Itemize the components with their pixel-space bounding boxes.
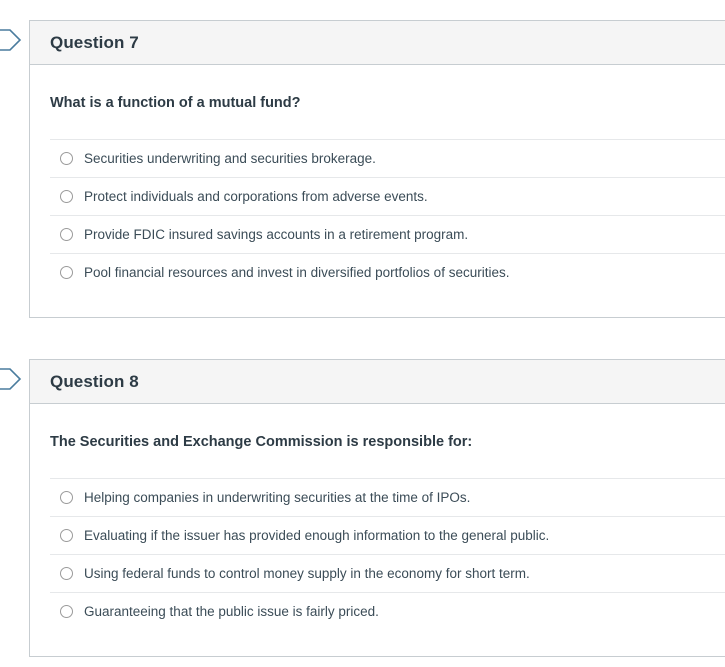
answer-option-label: Pool financial resources and invest in d… [84, 264, 509, 282]
question-body: What is a function of a mutual fund? Sec… [30, 65, 725, 319]
radio-button-icon[interactable] [60, 605, 73, 618]
answer-list-spacer [50, 291, 725, 319]
answer-option-label: Evaluating if the issuer has provided en… [84, 527, 549, 545]
answer-option[interactable]: Securities underwriting and securities b… [50, 139, 725, 177]
radio-button-icon[interactable] [60, 567, 73, 580]
answer-option-label: Protect individuals and corporations fro… [84, 188, 428, 206]
answer-option-label: Securities underwriting and securities b… [84, 150, 376, 168]
radio-button-icon[interactable] [60, 228, 73, 241]
radio-button-icon[interactable] [60, 491, 73, 504]
answer-option-label: Using federal funds to control money sup… [84, 565, 530, 583]
radio-button-icon[interactable] [60, 152, 73, 165]
answer-option-label: Provide FDIC insured savings accounts in… [84, 226, 468, 244]
question-header: Question 7 [30, 21, 725, 65]
answer-option[interactable]: Guaranteeing that the public issue is fa… [50, 592, 725, 630]
answer-option[interactable]: Provide FDIC insured savings accounts in… [50, 215, 725, 253]
answer-list-spacer [50, 630, 725, 658]
answer-option[interactable]: Evaluating if the issuer has provided en… [50, 516, 725, 554]
quiz-page: Question 7 What is a function of a mutua… [0, 0, 725, 667]
radio-button-icon[interactable] [60, 266, 73, 279]
answer-option[interactable]: Using federal funds to control money sup… [50, 554, 725, 592]
question-card: Question 8 The Securities and Exchange C… [29, 359, 725, 657]
question-flag-arrow-icon[interactable] [0, 29, 22, 51]
radio-button-icon[interactable] [60, 190, 73, 203]
answer-list: Helping companies in underwriting securi… [30, 478, 725, 658]
question-body: The Securities and Exchange Commission i… [30, 404, 725, 658]
answer-option-label: Helping companies in underwriting securi… [84, 489, 470, 507]
question-header-title: Question 7 [50, 33, 139, 53]
question-header-title: Question 8 [50, 372, 139, 392]
question-flag-arrow-icon[interactable] [0, 368, 22, 390]
question-prompt: The Securities and Exchange Commission i… [30, 432, 725, 452]
answer-option[interactable]: Pool financial resources and invest in d… [50, 253, 725, 291]
question-header: Question 8 [30, 360, 725, 404]
question-prompt: What is a function of a mutual fund? [30, 93, 725, 113]
answer-option-label: Guaranteeing that the public issue is fa… [84, 603, 379, 621]
answer-list: Securities underwriting and securities b… [30, 139, 725, 319]
answer-option[interactable]: Helping companies in underwriting securi… [50, 478, 725, 516]
radio-button-icon[interactable] [60, 529, 73, 542]
answer-option[interactable]: Protect individuals and corporations fro… [50, 177, 725, 215]
question-card: Question 7 What is a function of a mutua… [29, 20, 725, 318]
